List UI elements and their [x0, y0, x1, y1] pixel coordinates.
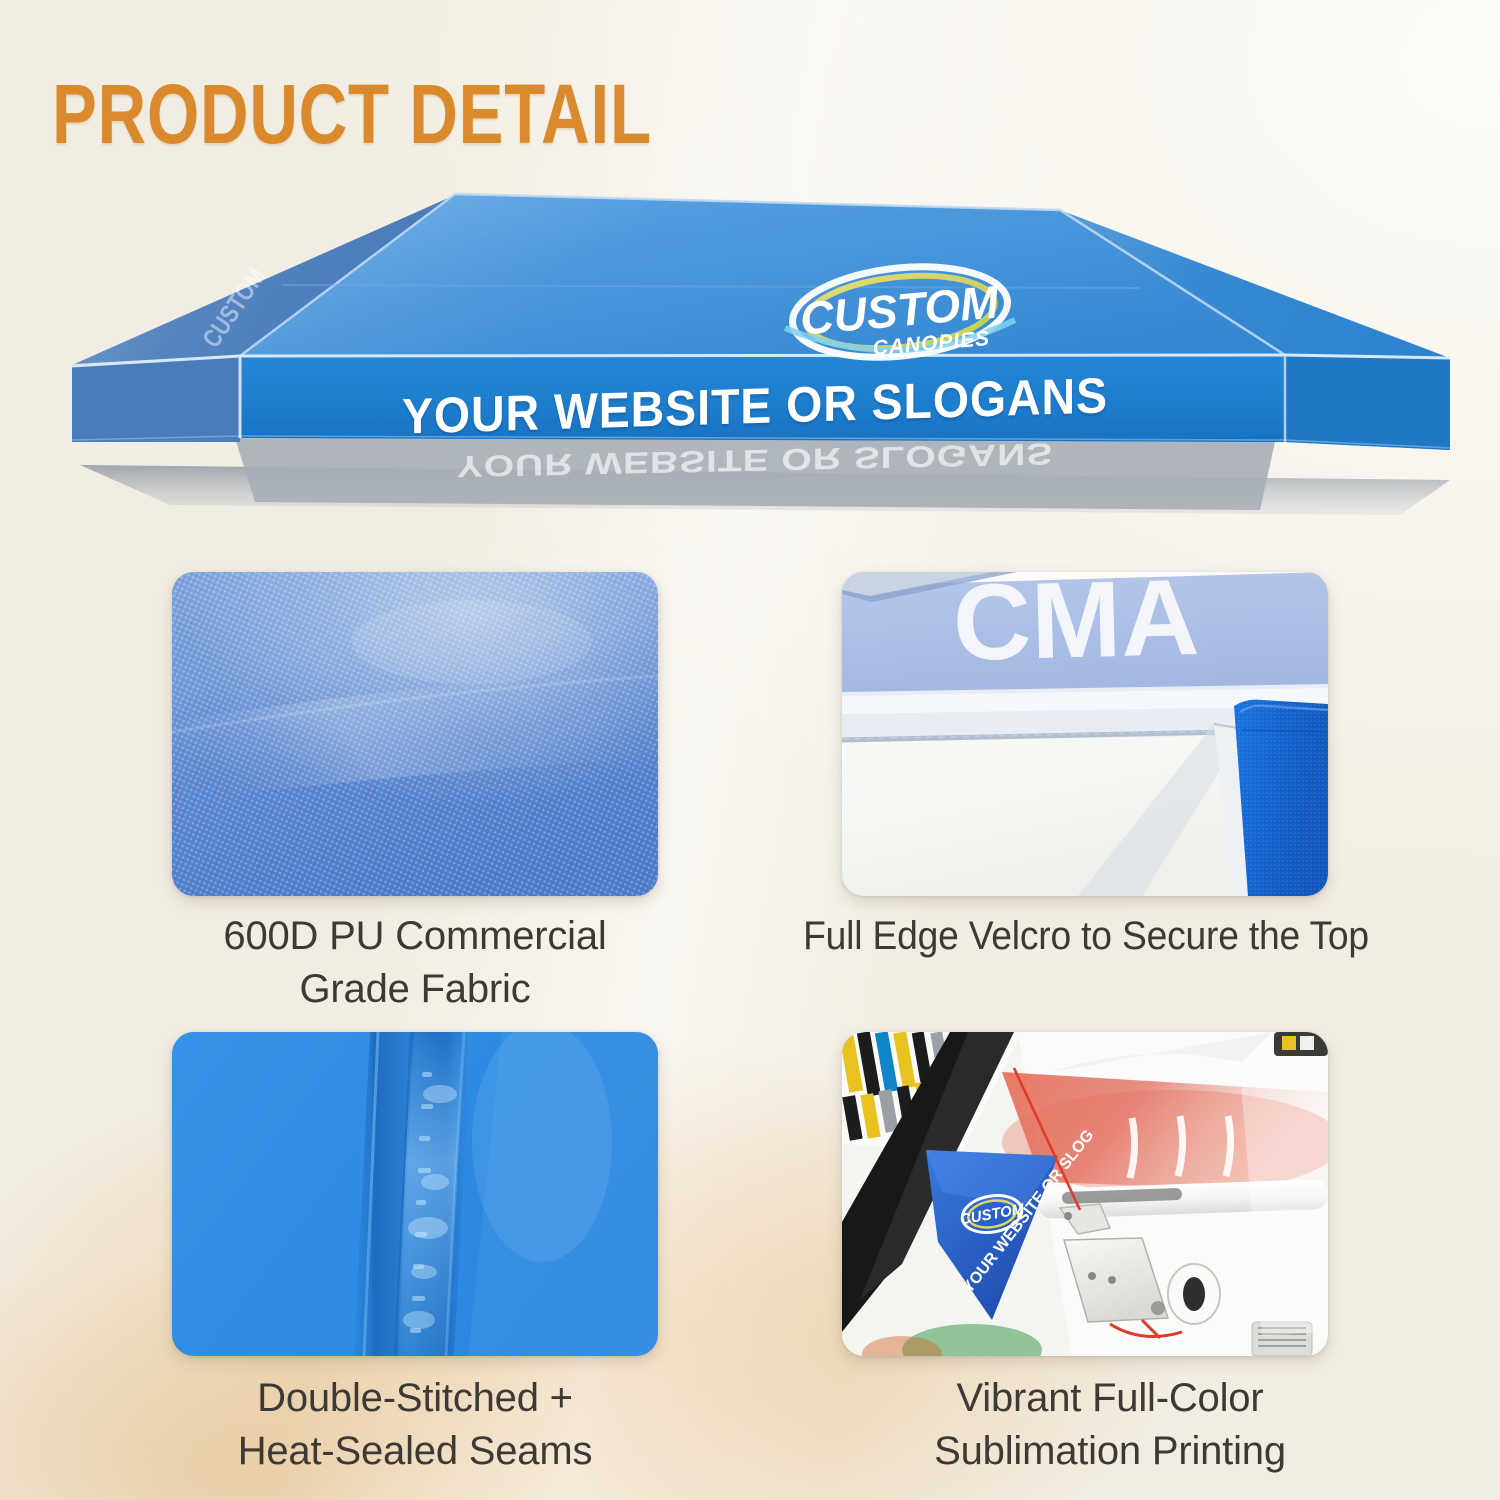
caption-line: Vibrant Full-Color — [800, 1372, 1420, 1425]
feature-caption-velcro: Full Edge Velcro to Secure the Top — [744, 910, 1428, 963]
heat-sealed-seam-illustration — [172, 1032, 658, 1356]
velcro-edge-illustration: CMA — [842, 572, 1328, 896]
canopy-hero-image: CUSTOM CANOPIES CUSTOM YOUR WEBSITE OR S… — [60, 180, 1450, 525]
brand-logo: CUSTOM CANOPIES — [750, 258, 1050, 368]
feature-caption-fabric: 600D PU Commercial Grade Fabric — [130, 910, 700, 1016]
feature-image-velcro: CMA — [842, 572, 1328, 896]
feature-caption-printing: Vibrant Full-Color Sublimation Printing — [800, 1372, 1420, 1478]
page-title: PRODUCT DETAIL — [52, 72, 652, 156]
caption-line: 600D PU Commercial — [130, 910, 700, 963]
feature-image-printing: CUSTOM YOUR WEBSITE OR SLOG — [842, 1032, 1328, 1356]
feature-image-fabric — [172, 572, 658, 896]
feature-image-seams — [172, 1032, 658, 1356]
product-detail-page: PRODUCT DETAIL — [0, 0, 1500, 1500]
caption-line: Heat-Sealed Seams — [130, 1425, 700, 1478]
feature-caption-seams: Double-Stitched + Heat-Sealed Seams — [130, 1372, 700, 1478]
caption-line: Sublimation Printing — [800, 1425, 1420, 1478]
caption-line: Full Edge Velcro to Secure the Top — [744, 910, 1428, 963]
caption-line: Double-Stitched + — [130, 1372, 700, 1425]
velcro-image-text: CMA — [952, 572, 1201, 683]
caption-line: Grade Fabric — [130, 963, 700, 1016]
fabric-swatch-illustration — [172, 572, 658, 896]
sublimation-printer-illustration: CUSTOM YOUR WEBSITE OR SLOG — [842, 1032, 1328, 1356]
